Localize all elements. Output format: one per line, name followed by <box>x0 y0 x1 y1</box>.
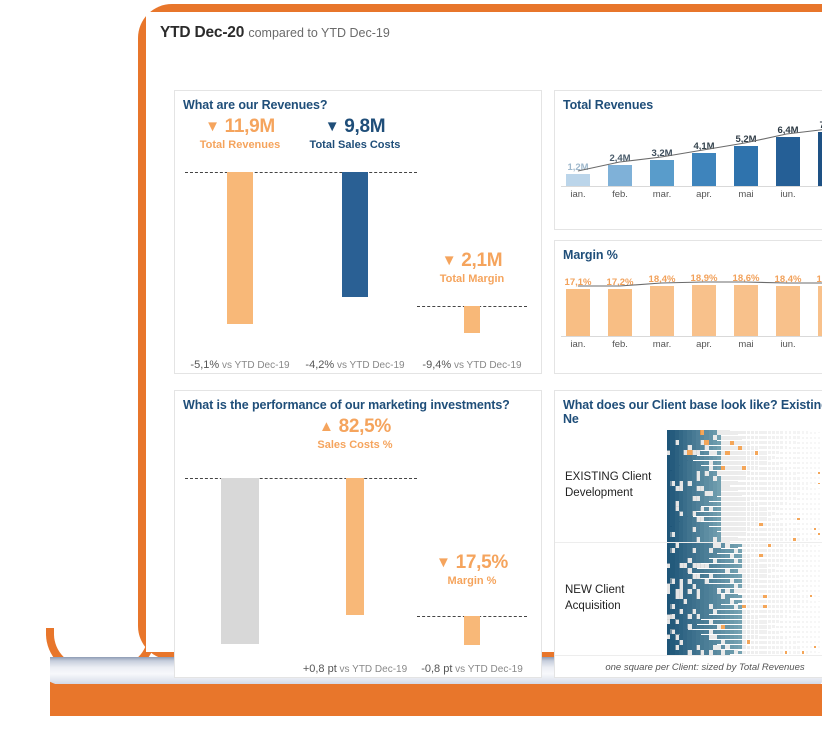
client-square <box>759 517 762 520</box>
client-square <box>789 538 792 541</box>
client-square <box>772 636 775 639</box>
panel-revenues-title: What are our Revenues? <box>175 91 541 116</box>
client-square <box>768 467 771 470</box>
bar-mar.[interactable]: 18,4% <box>650 286 674 336</box>
client-square <box>793 528 795 530</box>
client-row-new[interactable]: NEW Client Acquisition <box>555 543 822 656</box>
client-square <box>763 610 766 613</box>
client-square <box>780 441 783 444</box>
client-square <box>747 431 751 435</box>
client-square <box>759 477 762 480</box>
client-square <box>772 482 775 485</box>
client-square <box>806 631 808 633</box>
client-square <box>806 447 808 449</box>
client-square <box>793 518 795 520</box>
client-square <box>789 646 792 649</box>
client-square <box>793 600 795 602</box>
client-square <box>780 626 783 629</box>
client-square <box>776 523 779 526</box>
client-square <box>806 442 808 444</box>
kpi-column-3[interactable]: ▼ 2,1MTotal Margin <box>417 250 527 285</box>
client-square <box>814 545 816 547</box>
client-square <box>776 446 779 449</box>
panel-marketing[interactable]: What is the performance of our marketing… <box>174 390 542 678</box>
client-square <box>802 452 804 454</box>
arrow-down-icon: ▼ <box>436 554 451 571</box>
client-square <box>751 620 755 624</box>
bar-ian.[interactable]: 17,1% <box>566 289 590 336</box>
client-square <box>772 456 775 459</box>
page-title: YTD Dec-20 <box>160 24 244 41</box>
kpi-value: ▲ 82,5% <box>300 416 410 438</box>
client-square <box>785 641 788 644</box>
client-square <box>810 477 812 479</box>
client-square <box>806 437 808 439</box>
client-square <box>768 441 771 444</box>
client-square <box>772 620 775 623</box>
panel-marketing-title: What is the performance of our marketing… <box>175 391 541 416</box>
client-square <box>806 595 808 597</box>
kpi-column-2[interactable]: ▲ 82,5%Sales Costs % <box>300 416 410 451</box>
client-square <box>768 497 771 500</box>
bar-iul.[interactable]: 18,4% <box>818 286 822 336</box>
client-square <box>789 457 792 460</box>
bar-mar.[interactable]: 3,2M <box>650 160 674 186</box>
client-square <box>780 513 783 516</box>
client-square <box>768 462 771 465</box>
client-square <box>802 477 804 479</box>
client-square <box>780 502 783 505</box>
client-square <box>789 503 792 506</box>
client-square <box>818 523 820 525</box>
bar-mai[interactable]: 5,2M <box>734 146 758 186</box>
client-square <box>768 564 771 567</box>
client-square <box>789 436 792 439</box>
kpi-value: ▼ 17,5% <box>417 552 527 574</box>
client-square <box>785 502 788 505</box>
client-square <box>818 513 820 515</box>
client-square <box>768 580 771 583</box>
client-square <box>747 635 751 639</box>
client-square <box>780 477 783 480</box>
bar-body <box>608 165 632 186</box>
client-square <box>768 585 771 588</box>
client-square <box>785 518 788 521</box>
client-square <box>759 590 762 593</box>
client-square <box>814 590 816 592</box>
client-square <box>806 462 808 464</box>
x-axis-tick: apr. <box>684 339 724 350</box>
client-square <box>751 579 755 583</box>
client-square <box>742 436 746 440</box>
client-square <box>776 595 779 598</box>
client-square <box>797 472 799 474</box>
client-square <box>797 523 799 525</box>
client-square <box>806 555 808 557</box>
client-square <box>751 456 755 460</box>
marketing-bullet-chart: ▲ 82,5%Sales Costs %▼ 17,5%Margin % <box>175 416 541 666</box>
client-square <box>814 513 816 515</box>
client-square <box>785 492 788 495</box>
bar-body <box>692 153 716 186</box>
client-square <box>763 651 766 654</box>
client-square <box>772 559 775 562</box>
client-square <box>755 502 758 505</box>
client-square <box>747 625 751 629</box>
client-square <box>772 538 775 541</box>
client-square <box>780 565 783 568</box>
client-square <box>747 615 751 619</box>
client-square <box>818 462 820 464</box>
panel-clients[interactable]: What does our Client base look like? Exi… <box>554 390 822 678</box>
client-square <box>751 502 755 506</box>
client-square <box>751 630 755 634</box>
kpi-bar <box>342 172 368 297</box>
client-square <box>802 590 804 592</box>
client-square <box>768 625 771 628</box>
client-square <box>772 487 775 490</box>
client-square <box>797 616 799 618</box>
client-square <box>759 564 762 567</box>
client-square <box>810 442 812 444</box>
client-square <box>776 431 779 434</box>
client-square <box>747 651 751 655</box>
client-square <box>818 596 820 598</box>
reference-line <box>185 172 417 173</box>
bar-body <box>650 160 674 186</box>
client-square <box>780 472 783 475</box>
client-square <box>780 621 783 624</box>
client-square <box>785 487 788 490</box>
client-square <box>789 482 792 485</box>
client-square <box>755 497 758 500</box>
panel-revenues[interactable]: What are our Revenues? ▼ 11,9MTotal Reve… <box>174 90 542 374</box>
client-square <box>810 472 812 474</box>
kpi-column-3[interactable]: ▼ 17,5%Margin % <box>417 552 527 587</box>
client-square <box>759 636 762 639</box>
bar-feb.[interactable]: 17,2% <box>608 289 632 336</box>
client-square <box>789 636 792 639</box>
client-square <box>742 527 746 531</box>
bar-iun.[interactable]: 6,4M <box>776 137 800 186</box>
client-square <box>763 517 766 520</box>
client-square <box>751 497 755 501</box>
client-square <box>802 636 804 638</box>
client-square <box>747 590 751 594</box>
client-square <box>768 512 771 515</box>
client-square <box>797 436 799 438</box>
client-square <box>763 477 766 480</box>
client-square <box>793 549 795 551</box>
client-square <box>755 635 758 638</box>
client-square <box>768 451 771 454</box>
client-square <box>802 616 804 618</box>
client-square <box>751 461 755 465</box>
client-square <box>797 595 799 597</box>
client-square <box>785 452 788 455</box>
client-square <box>751 517 755 521</box>
client-square <box>763 497 766 500</box>
client-square <box>742 544 746 548</box>
client-square <box>768 600 771 603</box>
client-square <box>802 487 804 489</box>
bar-apr.[interactable]: 4,1M <box>692 153 716 186</box>
client-square <box>780 605 783 608</box>
panel-total-revenues[interactable]: Total Revenues 1,2M2,4M3,2M4,1M5,2M6,4M7… <box>554 90 822 230</box>
client-square <box>806 600 808 602</box>
client-square <box>793 626 795 628</box>
client-square <box>747 600 751 604</box>
panel-margin-percent[interactable]: Margin % 17,1%17,2%18,4%18,9%18,6%18,4%1… <box>554 240 822 374</box>
client-square <box>772 615 775 618</box>
client-square <box>776 575 779 578</box>
client-square <box>802 580 804 582</box>
client-square <box>780 615 783 618</box>
client-square <box>818 508 820 510</box>
client-square <box>806 646 808 648</box>
client-square <box>755 641 758 644</box>
client-square <box>768 549 771 552</box>
kpi-label: Total Revenues <box>185 139 295 151</box>
client-square <box>793 533 795 535</box>
client-square <box>755 441 758 444</box>
client-square <box>759 446 762 449</box>
client-square <box>814 523 816 525</box>
client-square <box>776 585 779 588</box>
client-square <box>780 452 783 455</box>
variance-label: +0,8 pt vs YTD Dec-19 <box>290 663 420 675</box>
margin-percent-bar-chart: 17,1%17,2%18,4%18,9%18,6%18,4%18,4% ian.… <box>555 266 822 358</box>
client-square <box>797 549 799 551</box>
client-square <box>780 446 783 449</box>
client-square <box>772 646 775 649</box>
client-square <box>810 462 812 464</box>
client-square <box>785 605 788 608</box>
client-square <box>780 549 783 552</box>
client-square <box>759 472 762 475</box>
client-square <box>759 559 762 562</box>
client-square <box>755 605 758 608</box>
client-square <box>747 564 751 568</box>
client-square <box>793 482 795 484</box>
client-square <box>763 585 766 588</box>
kpi-bar <box>464 306 480 333</box>
client-square <box>776 492 779 495</box>
client-square <box>818 646 820 648</box>
client-square <box>797 575 799 577</box>
client-square <box>763 492 766 495</box>
client-square <box>776 507 779 510</box>
client-square <box>793 631 795 633</box>
client-square <box>797 636 799 638</box>
client-square <box>755 538 758 541</box>
client-square <box>810 488 812 490</box>
client-square <box>793 441 795 443</box>
client-square <box>785 559 788 562</box>
client-square <box>814 601 816 603</box>
client-square <box>797 513 799 515</box>
client-square <box>768 477 771 480</box>
kpi-column-1[interactable]: ▼ 11,9MTotal Revenues <box>185 116 295 151</box>
client-square <box>768 559 771 562</box>
client-square <box>802 518 804 520</box>
client-square <box>742 600 746 604</box>
client-square <box>755 610 758 613</box>
client-square <box>763 636 766 639</box>
client-square <box>818 533 820 535</box>
client-square <box>785 615 788 618</box>
client-square <box>789 616 792 619</box>
client-square <box>772 507 775 510</box>
client-square <box>759 620 762 623</box>
client-row-existing[interactable]: EXISTING Client Development <box>555 430 822 543</box>
bar-value-label: 6,4M <box>777 125 798 136</box>
client-square <box>797 492 799 494</box>
client-square <box>818 636 820 638</box>
client-square <box>768 610 771 613</box>
client-square <box>797 467 799 469</box>
client-square <box>780 482 783 485</box>
client-square <box>755 533 758 536</box>
client-square <box>763 436 766 439</box>
client-square <box>797 487 799 489</box>
client-square <box>751 554 755 558</box>
client-square <box>797 621 799 623</box>
kpi-column-2[interactable]: ▼ 9,8MTotal Sales Costs <box>300 116 410 151</box>
client-square <box>802 570 804 572</box>
client-square <box>806 626 808 628</box>
client-square <box>755 456 758 459</box>
bar-value-label: 18,4% <box>775 274 802 285</box>
client-square <box>793 641 795 643</box>
client-square <box>776 600 779 603</box>
client-square <box>802 600 804 602</box>
client-square <box>814 442 816 444</box>
client-square <box>755 482 758 485</box>
client-square <box>772 605 775 608</box>
client-square <box>793 585 795 587</box>
client-square <box>814 477 816 479</box>
client-square <box>763 590 766 593</box>
client-square <box>768 507 771 510</box>
client-square <box>759 538 762 541</box>
client-square <box>810 646 812 648</box>
client-square <box>810 523 812 525</box>
client-square <box>789 631 792 634</box>
client-square <box>818 472 820 474</box>
client-square <box>772 651 775 654</box>
client-square <box>763 512 766 515</box>
client-square <box>789 560 792 563</box>
client-row-new-label: NEW Client Acquisition <box>555 583 667 614</box>
client-square <box>806 508 808 510</box>
client-square <box>772 549 775 552</box>
client-square <box>751 559 755 563</box>
client-square <box>814 595 816 597</box>
client-square <box>768 569 771 572</box>
client-square <box>789 595 792 598</box>
client-square <box>814 488 816 490</box>
client-square <box>780 636 783 639</box>
kpi-bar <box>227 172 253 324</box>
client-square <box>806 651 808 653</box>
client-square <box>789 651 792 654</box>
client-square <box>772 564 775 567</box>
bar-body <box>566 174 590 186</box>
client-square <box>806 493 808 495</box>
client-square <box>772 472 775 475</box>
client-square <box>789 565 792 568</box>
bar-apr.[interactable]: 18,9% <box>692 285 716 336</box>
screenshot-root: YTD Dec-20 compared to YTD Dec-19 What a… <box>0 0 822 732</box>
client-square <box>747 527 751 531</box>
client-square <box>759 549 762 552</box>
dashboard-canvas: YTD Dec-20 compared to YTD Dec-19 What a… <box>146 12 822 652</box>
client-square <box>742 538 746 542</box>
client-square <box>747 466 751 470</box>
panel-clients-title: What does our Client base look like? Exi… <box>555 391 822 430</box>
bar-feb.[interactable]: 2,4M <box>608 165 632 186</box>
client-square <box>789 600 792 603</box>
client-square <box>793 503 795 505</box>
client-square <box>776 528 779 531</box>
client-square <box>785 446 788 449</box>
bar-iun.[interactable]: 18,4% <box>776 286 800 336</box>
client-square <box>793 595 795 597</box>
client-square <box>806 457 808 459</box>
client-square <box>789 513 792 516</box>
client-square <box>814 611 816 613</box>
client-square <box>755 436 758 439</box>
client-square <box>763 487 766 490</box>
client-square <box>751 507 755 511</box>
client-square <box>751 482 755 486</box>
client-square <box>806 533 808 535</box>
kpi-value: ▼ 11,9M <box>185 116 295 138</box>
client-square <box>810 447 812 449</box>
client-square <box>785 549 788 552</box>
client-square <box>742 554 746 558</box>
client-square <box>763 564 766 567</box>
client-square <box>785 600 788 603</box>
client-square <box>780 570 783 573</box>
client-square <box>780 646 783 649</box>
client-square <box>776 477 779 480</box>
client-square <box>776 482 779 485</box>
client-square <box>818 555 820 557</box>
client-square <box>780 523 783 526</box>
bar-ian.[interactable]: 1,2M <box>566 174 590 186</box>
client-square <box>759 641 762 644</box>
client-square <box>802 523 804 525</box>
client-treemap-existing <box>667 430 822 542</box>
client-square <box>755 559 758 562</box>
bar-iul.[interactable]: 7,1M <box>818 132 822 186</box>
client-square <box>806 621 808 623</box>
client-treemap-new <box>667 543 822 655</box>
client-square <box>780 492 783 495</box>
client-square <box>789 452 792 455</box>
client-square <box>789 585 792 588</box>
client-square <box>802 585 804 587</box>
client-square <box>810 611 812 613</box>
client-square <box>768 636 771 639</box>
client-square <box>780 580 783 583</box>
client-square <box>806 565 808 567</box>
client-square <box>793 452 795 454</box>
client-square <box>747 595 751 599</box>
bar-mai[interactable]: 18,6% <box>734 285 758 336</box>
